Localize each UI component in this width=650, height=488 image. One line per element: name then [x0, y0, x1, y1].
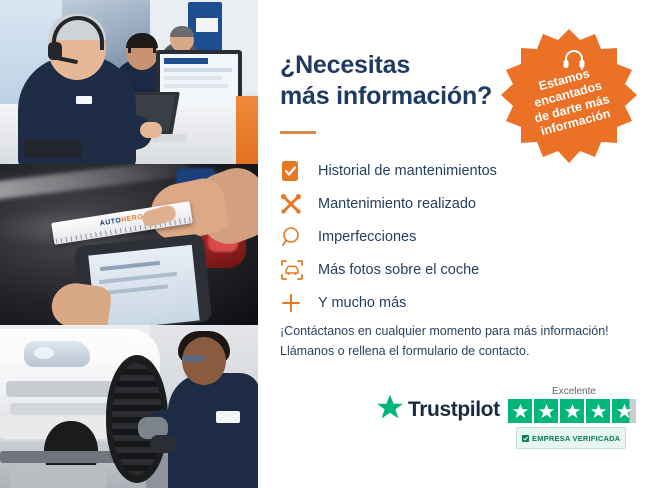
screen-row	[164, 84, 228, 88]
page-title-line-2: más información?	[280, 81, 520, 112]
verified-label: EMPRESA VERIFICADA	[532, 434, 620, 443]
list-item-imperfections[interactable]: Imperfecciones	[280, 221, 630, 253]
screen-row	[164, 76, 222, 80]
rating-star	[534, 399, 558, 423]
rating-star	[586, 399, 610, 423]
agent-one-hand	[140, 122, 162, 138]
list-item-label: Historial de mantenimientos	[318, 163, 497, 179]
car-inspection-ruler-photo: AUTOHERO	[0, 164, 258, 325]
list-item-maintenance-history[interactable]: Historial de mantenimientos	[280, 155, 630, 187]
tools-cross-icon	[280, 191, 310, 217]
list-item-label: Mantenimiento realizado	[318, 196, 476, 212]
content-panel: ¿Necesitas más información? Estamos enca…	[258, 0, 650, 488]
info-starburst-badge: Estamos encantados de darte más informac…	[498, 26, 640, 168]
safety-glasses	[182, 355, 204, 362]
call-center-agents-photo	[0, 0, 258, 164]
information-promo-card: AUTOHERO	[0, 0, 650, 488]
screen-header-bar	[164, 58, 208, 64]
wall-poster-detail	[196, 18, 218, 32]
magnifier-icon	[280, 224, 310, 250]
photo-column: AUTOHERO	[0, 0, 258, 488]
trustpilot-wordmark: Trustpilot	[408, 398, 500, 422]
screen-row	[164, 68, 232, 72]
title-underline	[280, 131, 316, 134]
orange-panel	[236, 96, 258, 164]
rating-star	[508, 399, 532, 423]
headlight-inner	[34, 347, 54, 359]
mechanic-glove-dark	[150, 435, 176, 453]
clipboard-check-icon	[280, 158, 310, 184]
list-item-maintenance-done[interactable]: Mantenimiento realizado	[280, 188, 630, 220]
desk-tablet	[24, 140, 82, 158]
list-item-label: Más fotos sobre el coche	[318, 262, 479, 278]
trustpilot-logo[interactable]: Trustpilot	[376, 394, 500, 426]
brand-hero: HERO	[121, 214, 144, 224]
car-lift-base	[10, 465, 106, 488]
verified-company-badge: EMPRESA VERIFICADA	[516, 427, 626, 449]
rating-star	[612, 399, 636, 423]
contact-text: ¡Contáctanos en cualquier momento para m…	[280, 322, 640, 362]
verified-check-icon	[522, 429, 529, 447]
contact-line-1: ¡Contáctanos en cualquier momento para m…	[280, 322, 640, 342]
plus-icon	[280, 290, 310, 316]
page-title: ¿Necesitas más información?	[280, 50, 520, 111]
uniform-badge	[76, 96, 92, 104]
trustpilot-rating: Excelente	[508, 386, 640, 449]
car-lift-arm	[0, 451, 120, 463]
trustpilot-star-icon	[376, 394, 404, 426]
feature-list: Historial de mantenimientos Mantenimient…	[280, 155, 630, 320]
car-frame-icon	[280, 257, 310, 283]
page-title-line-1: ¿Necesitas	[280, 50, 520, 81]
list-item-much-more[interactable]: Y mucho más	[280, 287, 630, 319]
contact-line-2: Llámanos o rellena el formulario de cont…	[280, 342, 640, 362]
brand-auto: AUTO	[99, 217, 122, 227]
car-grille-lower	[10, 403, 110, 415]
rating-label: Excelente	[508, 386, 640, 397]
star-rating	[508, 399, 640, 423]
trustpilot-block[interactable]: Trustpilot Excelente	[376, 386, 646, 446]
mechanic-uniform-badge	[216, 411, 240, 423]
car-grille-upper	[6, 381, 118, 397]
rating-star	[560, 399, 584, 423]
list-item-label: Imperfecciones	[318, 229, 416, 245]
list-item-label: Y mucho más	[318, 295, 406, 311]
mechanic-wheel-photo	[0, 325, 258, 488]
list-item-more-photos[interactable]: Más fotos sobre el coche	[280, 254, 630, 286]
